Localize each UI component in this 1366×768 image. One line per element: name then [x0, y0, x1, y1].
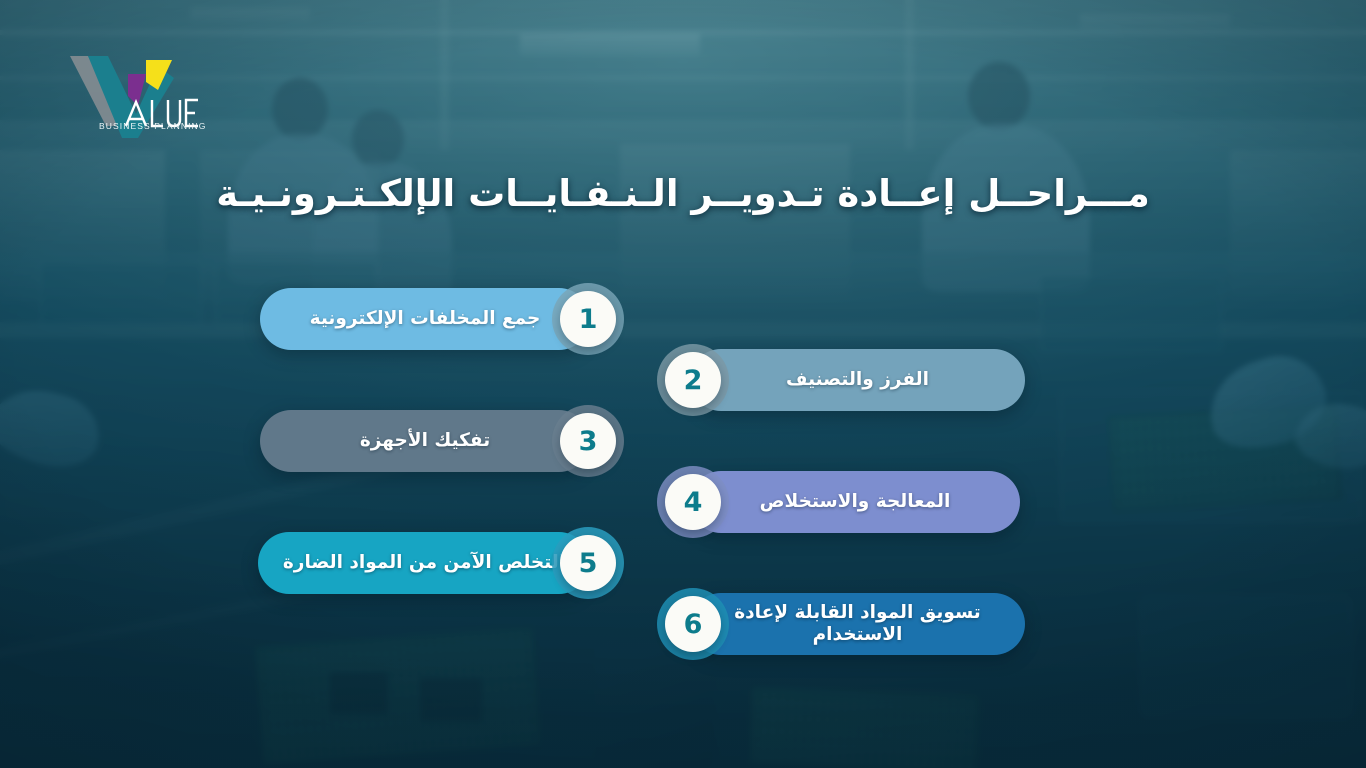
step-5-label: التخلص الآمن من المواد الضارة	[269, 552, 579, 574]
step-1-number-circle[interactable]: 1	[560, 291, 616, 347]
logo-tagline: BUSINESS PLANNING	[99, 121, 207, 131]
step-6-bar[interactable]: تسويق المواد القابلة لإعادة الاستخدام	[690, 593, 1025, 655]
step-6-label: تسويق المواد القابلة لإعادة الاستخدام	[690, 602, 1025, 646]
step-3-number-circle[interactable]: 3	[560, 413, 616, 469]
step-4-number-circle[interactable]: 4	[665, 474, 721, 530]
step-5-bar[interactable]: التخلص الآمن من المواد الضارة	[258, 532, 590, 594]
step-4-label: المعالجة والاستخلاص	[746, 491, 965, 513]
step-4-number: 4	[684, 487, 703, 518]
step-3-number: 3	[579, 426, 598, 457]
step-2-bar[interactable]: الفرز والتصنيف	[690, 349, 1025, 411]
step-3-label: تفكيك الأجهزة	[346, 430, 504, 452]
steps-chain: جمع المخلفات الإلكترونية 1 الفرز والتصني…	[0, 280, 1366, 700]
infographic-canvas: BUSINESS PLANNING مـــراحــل إعــادة تـد…	[0, 0, 1366, 768]
step-1-bar[interactable]: جمع المخلفات الإلكترونية	[260, 288, 590, 350]
step-4-bar[interactable]: المعالجة والاستخلاص	[690, 471, 1020, 533]
company-logo[interactable]: BUSINESS PLANNING	[62, 48, 212, 140]
step-5-number-circle[interactable]: 5	[560, 535, 616, 591]
step-2-number-circle[interactable]: 2	[665, 352, 721, 408]
step-6-number: 6	[684, 609, 703, 640]
step-1-number: 1	[579, 304, 598, 335]
step-2-number: 2	[684, 365, 703, 396]
step-2-label: الفرز والتصنيف	[772, 369, 943, 391]
step-5-number: 5	[579, 548, 598, 579]
step-6-number-circle[interactable]: 6	[665, 596, 721, 652]
step-1-label: جمع المخلفات الإلكترونية	[296, 308, 555, 330]
page-title: مـــراحــل إعــادة تـدويــر الـنـفـايــا…	[0, 172, 1366, 215]
step-3-bar[interactable]: تفكيك الأجهزة	[260, 410, 590, 472]
